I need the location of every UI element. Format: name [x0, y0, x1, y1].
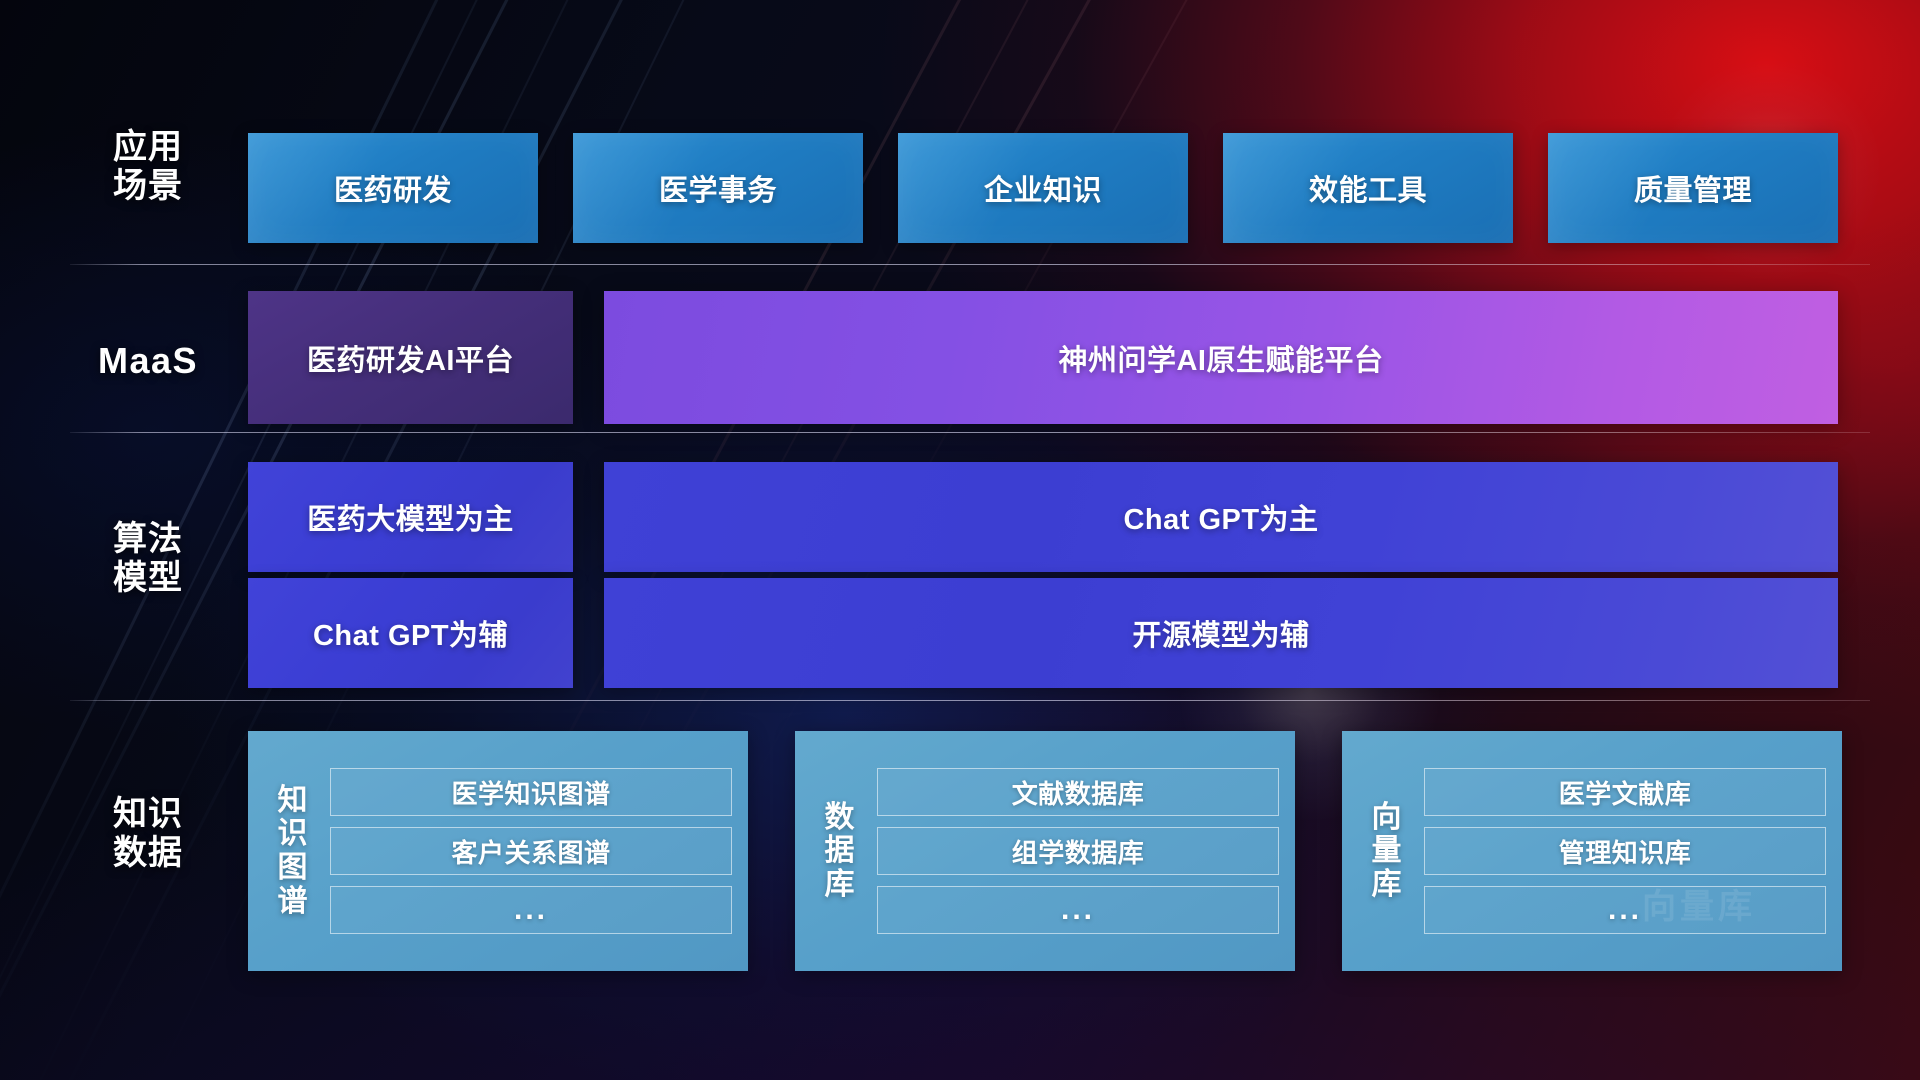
knowledge-graph-card[interactable]: 知 识 图 谱 医学知识图谱 客户关系图谱 ... — [248, 731, 748, 971]
algo-box-chatgpt-secondary[interactable]: Chat GPT为辅 — [248, 578, 573, 688]
database-item-list: 文献数据库 组学数据库 ... — [871, 768, 1279, 934]
row-label-knowledge-data: 知识 数据 — [78, 795, 218, 874]
row-label-maas: MaaS — [78, 340, 218, 382]
row-divider-2 — [70, 432, 1870, 433]
list-item-more[interactable]: ... — [330, 886, 732, 934]
row-label-application-scenario: 应用 场景 — [78, 128, 218, 207]
maas-box-drug-rd-ai-platform[interactable]: 医药研发AI平台 — [248, 291, 573, 424]
maas-box-shenzhou-wenxue-platform[interactable]: 神州问学AI原生赋能平台 — [604, 291, 1838, 424]
app-box-quality-management[interactable]: 质量管理 — [1548, 133, 1838, 243]
app-box-medical-affairs[interactable]: 医学事务 — [573, 133, 863, 243]
app-box-enterprise-knowledge[interactable]: 企业知识 — [898, 133, 1188, 243]
list-item[interactable]: 组学数据库 — [877, 827, 1279, 875]
architecture-diagram: 应用 场景 医药研发 医学事务 企业知识 效能工具 质量管理 MaaS 医药研发… — [0, 0, 1920, 1080]
list-item[interactable]: 客户关系图谱 — [330, 827, 732, 875]
row-divider-1 — [70, 264, 1870, 265]
app-box-efficiency-tools[interactable]: 效能工具 — [1223, 133, 1513, 243]
row-divider-3 — [70, 700, 1870, 701]
list-item[interactable]: 医学知识图谱 — [330, 768, 732, 816]
knowledge-graph-item-list: 医学知识图谱 客户关系图谱 ... — [324, 768, 732, 934]
database-card[interactable]: 数 据 库 文献数据库 组学数据库 ... — [795, 731, 1295, 971]
list-item[interactable]: 文献数据库 — [877, 768, 1279, 816]
vector-database-card[interactable]: 向量库 向 量 库 医学文献库 管理知识库 ... — [1342, 731, 1842, 971]
database-card-label: 数 据 库 — [809, 801, 871, 902]
algo-box-opensource-secondary[interactable]: 开源模型为辅 — [604, 578, 1838, 688]
app-box-drug-rd[interactable]: 医药研发 — [248, 133, 538, 243]
vector-database-card-label: 向 量 库 — [1356, 801, 1418, 902]
list-item-more[interactable]: ... — [877, 886, 1279, 934]
list-item-more[interactable]: ... — [1424, 886, 1826, 934]
list-item[interactable]: 管理知识库 — [1424, 827, 1826, 875]
row-label-algorithm-model: 算法 模型 — [78, 520, 218, 599]
vector-database-item-list: 医学文献库 管理知识库 ... — [1418, 768, 1826, 934]
algo-box-chatgpt-primary[interactable]: Chat GPT为主 — [604, 462, 1838, 572]
algo-box-drug-llm-primary[interactable]: 医药大模型为主 — [248, 462, 573, 572]
list-item[interactable]: 医学文献库 — [1424, 768, 1826, 816]
knowledge-graph-card-label: 知 识 图 谱 — [262, 784, 324, 918]
